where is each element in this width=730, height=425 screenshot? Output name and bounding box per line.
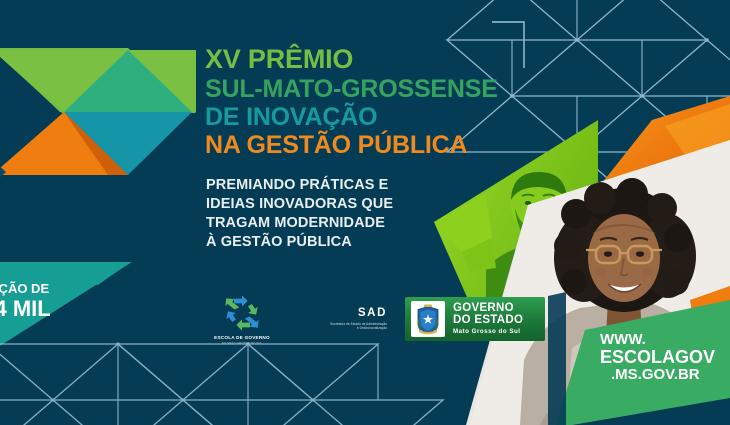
- subtitle-block: PREMIANDO PRÁTICAS E IDEIAS INOVADORAS Q…: [206, 176, 393, 253]
- sad-subtitle-line-2: e Desburocratização: [357, 326, 387, 330]
- url-line-1: WWW.: [600, 332, 715, 348]
- panel-divider: [548, 292, 566, 425]
- logo-sad: SAD Secretaria de Estado de Administraçã…: [279, 308, 387, 331]
- escolagov-arrows-icon: [218, 293, 266, 333]
- governo-line-2: DO ESTADO: [453, 315, 523, 327]
- title-line-2: SUL-MATO-GROSSENSE: [205, 77, 505, 102]
- title-line-4: NA GESTÃO PÚBLICA: [205, 133, 505, 158]
- logo-strip: ESCOLA DE GOVERNO DO MATO GROSSO DO SUL …: [205, 288, 545, 350]
- prize-value: R$ 24 MIL: [0, 297, 98, 321]
- subtitle-line-2: IDEIAS INOVADORAS QUE: [206, 195, 393, 214]
- sad-subtitle-line-1: Secretaria de Estado de Administração: [330, 322, 387, 326]
- sad-name: SAD: [358, 308, 387, 320]
- url-line-3: .MS.GOV.BR: [600, 367, 715, 383]
- website-url-block[interactable]: WWW. ESCOLAGOV .MS.GOV.BR: [600, 332, 715, 383]
- title-block: XV PRÊMIO SUL-MATO-GROSSENSE DE INOVAÇÃO…: [205, 46, 505, 158]
- governo-line-1: GOVERNO: [453, 303, 523, 315]
- prize-label: PREMIAÇÃO DE: [0, 282, 98, 296]
- logo-governo-do-estado: GOVERNO DO ESTADO Mato Grosso do Sul: [405, 297, 545, 341]
- subtitle-line-1: PREMIANDO PRÁTICAS E: [206, 176, 393, 195]
- logo-escola-de-governo: ESCOLA DE GOVERNO DO MATO GROSSO DO SUL: [205, 293, 279, 345]
- url-line-2: ESCOLAGOV: [600, 348, 715, 367]
- title-line-1: XV PRÊMIO: [205, 46, 505, 73]
- escolagov-subtitle: DO MATO GROSSO DO SUL: [222, 341, 262, 345]
- escolagov-name: ESCOLA DE GOVERNO: [214, 335, 270, 340]
- promotional-banner: XV PRÊMIO SUL-MATO-GROSSENSE DE INOVAÇÃO…: [0, 0, 730, 425]
- governo-line-3: Mato Grosso do Sul: [453, 329, 523, 335]
- title-line-3: DE INOVAÇÃO: [205, 105, 505, 130]
- subtitle-line-4: À GESTÃO PÚBLICA: [206, 233, 393, 252]
- governo-text-block: GOVERNO DO ESTADO Mato Grosso do Sul: [453, 303, 523, 335]
- brasao-ms-icon: [411, 301, 445, 337]
- subtitle-line-3: TRAGAM MODERNIDADE: [206, 214, 393, 233]
- prize-badge: PREMIAÇÃO DE R$ 24 MIL: [0, 282, 98, 321]
